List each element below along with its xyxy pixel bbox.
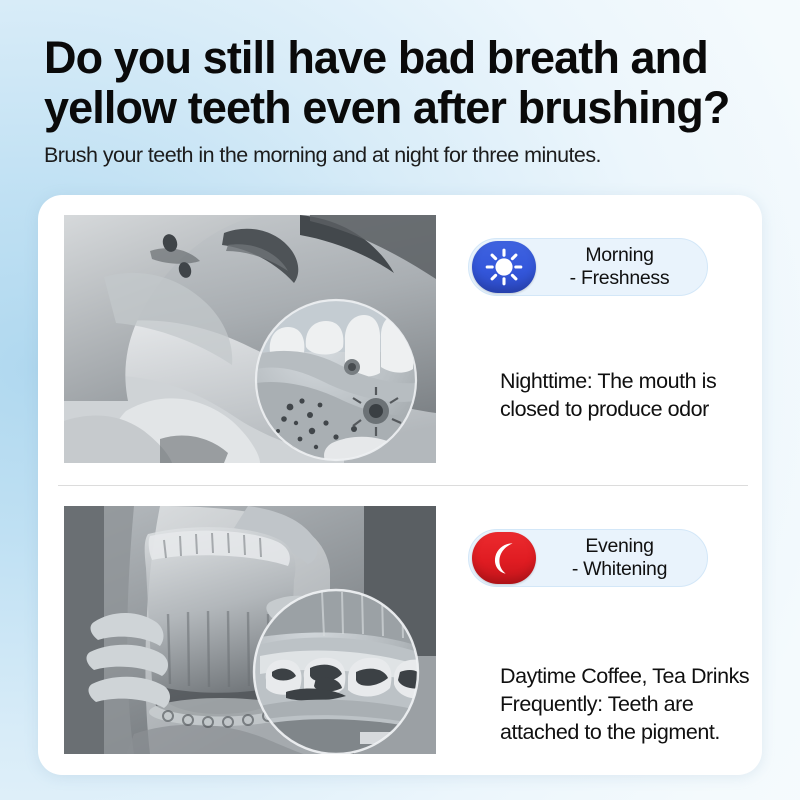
badge-evening[interactable]: Evening - Whitening	[468, 529, 708, 587]
badge-evening-label-line1: Evening	[585, 535, 653, 557]
panel-evening: Evening - Whitening Daytime Coffee, Tea …	[38, 486, 762, 776]
headline-line-1: Do you still have bad breath and	[0, 0, 800, 83]
description-evening-line2: Frequently: Teeth are	[500, 692, 693, 716]
moon-icon	[472, 532, 536, 584]
panel-morning: Morning - Freshness Nighttime: The mouth…	[38, 195, 762, 485]
badge-morning-label-line2: - Freshness	[570, 267, 670, 289]
description-morning: Nighttime: The mouth is closed to produc…	[500, 367, 776, 423]
badge-evening-label-line2: - Whitening	[572, 558, 667, 580]
description-evening-line3: attached to the pigment.	[500, 720, 720, 744]
content-card: Morning - Freshness Nighttime: The mouth…	[38, 195, 762, 775]
subheadline: Brush your teeth in the morning and at n…	[0, 133, 800, 168]
poster-root: Do you still have bad breath and yellow …	[0, 0, 800, 800]
header: Do you still have bad breath and yellow …	[0, 0, 800, 168]
evening-info: Evening - Whitening Daytime Coffee, Tea …	[462, 486, 762, 776]
badge-morning-label-line1: Morning	[585, 244, 653, 266]
headline-line-2: yellow teeth even after brushing?	[0, 83, 800, 133]
woman-drinking-photo	[64, 506, 436, 754]
badge-morning-label: Morning - Freshness	[536, 244, 707, 290]
description-evening: Daytime Coffee, Tea Drinks Frequently: T…	[500, 662, 776, 746]
sun-icon	[472, 241, 536, 293]
description-morning-line2: closed to produce odor	[500, 397, 709, 421]
description-morning-line1: Nighttime: The mouth is	[500, 369, 716, 393]
sleeping-woman-photo	[64, 215, 436, 463]
badge-morning[interactable]: Morning - Freshness	[468, 238, 708, 296]
badge-evening-label: Evening - Whitening	[536, 535, 707, 581]
description-evening-line1: Daytime Coffee, Tea Drinks	[500, 664, 749, 688]
morning-info: Morning - Freshness Nighttime: The mouth…	[462, 195, 762, 485]
